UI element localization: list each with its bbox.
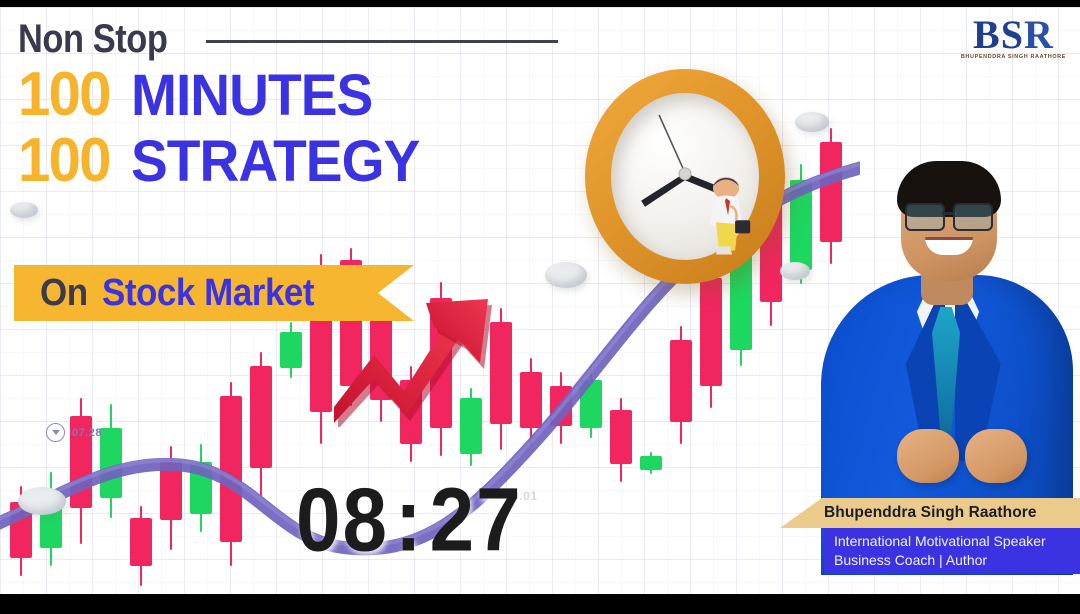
candlestick-body bbox=[370, 318, 392, 400]
subtitle-ribbon: On Stock Market bbox=[14, 265, 414, 321]
timer-minutes: 08 bbox=[296, 470, 389, 570]
logo-letter-s: S bbox=[1001, 12, 1024, 57]
headline-block: Non Stop 100 MINUTES 100 STRATEGY bbox=[18, 19, 558, 190]
presenter-role-line-2: Business Coach | Author bbox=[834, 551, 1080, 570]
candlestick-body bbox=[190, 462, 212, 514]
clock-illustration bbox=[585, 69, 785, 284]
cloud-decoration bbox=[18, 487, 66, 515]
eyebrow-row: Non Stop bbox=[18, 19, 558, 59]
candlestick-body bbox=[400, 380, 422, 444]
headline-line-2: 100 STRATEGY bbox=[18, 131, 558, 191]
candlestick-body bbox=[490, 322, 512, 424]
cloud-decoration bbox=[545, 262, 587, 288]
clock-face bbox=[611, 93, 759, 261]
cloud-decoration bbox=[10, 202, 38, 218]
candlestick-body bbox=[130, 518, 152, 566]
nameplate-role-bar: International Motivational Speaker Busin… bbox=[824, 528, 1080, 574]
chart-marker-0728: 07.28 bbox=[46, 423, 102, 442]
candlestick-body bbox=[280, 332, 302, 368]
timer-separator: : bbox=[395, 470, 424, 570]
candlestick-body bbox=[520, 372, 542, 428]
candlestick-body bbox=[790, 180, 812, 270]
headline-divider bbox=[206, 40, 558, 43]
logo-letter-r: R bbox=[1024, 12, 1054, 57]
candlestick-body bbox=[220, 396, 242, 542]
countdown-timer: 08:27 bbox=[296, 469, 523, 572]
businessman-figure bbox=[694, 176, 762, 256]
candlestick-body bbox=[610, 410, 632, 464]
ribbon-main-text: Stock Market bbox=[102, 272, 314, 315]
eyeglasses-icon bbox=[903, 203, 995, 227]
presenter-role-line-1: International Motivational Speaker bbox=[834, 532, 1080, 551]
bsr-logo: BSR BHUPENDDRA SINGH RAATHORE bbox=[961, 17, 1066, 60]
eyebrow-text: Non Stop bbox=[18, 19, 167, 59]
presenter-name: Bhupenddra Singh Raathore bbox=[824, 504, 1037, 522]
timer-seconds: 27 bbox=[430, 470, 523, 570]
candlestick-body bbox=[250, 366, 272, 468]
presenter-hand-left bbox=[897, 429, 959, 483]
candlestick-body bbox=[670, 340, 692, 422]
headline-word-strategy: STRATEGY bbox=[131, 134, 419, 190]
candlestick-body bbox=[100, 428, 122, 498]
nameplate-name-bar: Bhupenddra Singh Raathore bbox=[780, 498, 1080, 528]
logo-letter-b: B bbox=[973, 12, 1001, 57]
candlestick-body bbox=[700, 278, 722, 386]
headline-word-minutes: MINUTES bbox=[131, 68, 372, 124]
candlestick-body bbox=[580, 380, 602, 428]
presenter-nameplate: Bhupenddra Singh Raathore International … bbox=[780, 498, 1080, 574]
video-frame: 07.28 09.01 bbox=[0, 0, 1080, 614]
headline-number-strategy: 100 bbox=[18, 131, 110, 191]
letterbox-bar-bottom bbox=[0, 594, 1080, 614]
headline-number-minutes: 100 bbox=[18, 65, 110, 125]
letterbox-bar-top bbox=[0, 0, 1080, 7]
presenter-hand-right bbox=[965, 429, 1027, 483]
ribbon-prefix: On bbox=[40, 272, 88, 315]
bsr-logo-subtitle: BHUPENDDRA SINGH RAATHORE bbox=[961, 54, 1066, 60]
candlestick-body bbox=[160, 460, 182, 520]
poster-canvas: 07.28 09.01 bbox=[0, 7, 1080, 594]
chart-marker-label: 07.28 bbox=[72, 427, 102, 439]
cloud-decoration bbox=[795, 112, 829, 132]
chevron-down-icon bbox=[46, 423, 65, 442]
candlestick-body bbox=[640, 456, 662, 470]
candlestick-body bbox=[550, 386, 572, 426]
candlestick-body bbox=[460, 398, 482, 454]
bsr-logo-mark: BSR bbox=[961, 17, 1066, 53]
candlestick-body bbox=[430, 298, 452, 428]
headline-line-1: 100 MINUTES bbox=[18, 65, 558, 125]
